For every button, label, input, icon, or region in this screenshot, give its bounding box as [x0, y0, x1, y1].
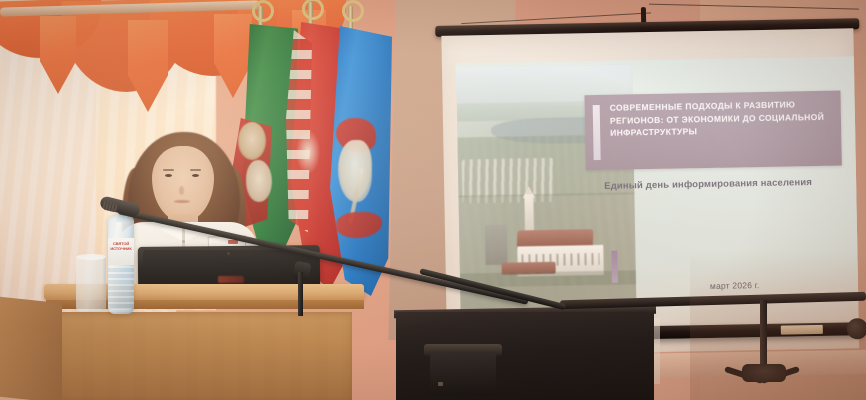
microphone-stand-pole	[298, 272, 303, 316]
name-badge-accent	[228, 240, 238, 244]
equipment-indicator-icon	[438, 382, 443, 386]
photo-scene: СОВРЕМЕННЫЕ ПОДХОДЫ К РАЗВИТИЮ РЕГИОНОВ:…	[0, 0, 866, 400]
bottle-label: СВЯТОЙ ИСТОЧНИК	[108, 238, 134, 265]
speaker-eye-left	[165, 174, 172, 177]
flag-green-emblem-lower	[246, 160, 272, 202]
drinking-glass[interactable]	[76, 256, 106, 312]
flag-belarus-detail	[296, 130, 320, 174]
slide-lower-accent-bar	[611, 251, 618, 283]
speaker-eye-right	[192, 174, 199, 177]
photo-grey-building	[485, 225, 508, 265]
flag-finial	[342, 0, 364, 22]
blouse-button	[182, 240, 185, 243]
flag-finial	[252, 0, 274, 22]
laptop-logo-icon	[218, 276, 244, 283]
speaker-mouth	[174, 200, 190, 203]
slide-title-accent-bar	[593, 105, 601, 160]
slide-title-block: СОВРЕМЕННЫЕ ПОДХОДЫ К РАЗВИТИЮ РЕГИОНОВ:…	[584, 91, 841, 171]
screen-support-wire	[649, 4, 859, 10]
slide-subtitle-text: Единый день информирования населения	[604, 175, 834, 194]
speaker-eyebrow-right	[190, 169, 201, 171]
speaker-eyebrow-left	[163, 169, 174, 171]
flag-green-emblem	[238, 122, 266, 160]
speaker-nose	[179, 186, 184, 195]
bottle-ribs	[108, 266, 134, 310]
glass-rim	[76, 254, 106, 260]
equipment-box	[430, 352, 496, 396]
slide-title-text: СОВРЕМЕННЫЕ ПОДХОДЫ К РАЗВИТИЮ РЕГИОНОВ:…	[610, 98, 837, 140]
laptop-hinge-detail	[227, 252, 230, 255]
wall-shadow	[690, 250, 866, 400]
podium-wood-grain	[56, 312, 352, 400]
podium-side	[0, 297, 62, 400]
